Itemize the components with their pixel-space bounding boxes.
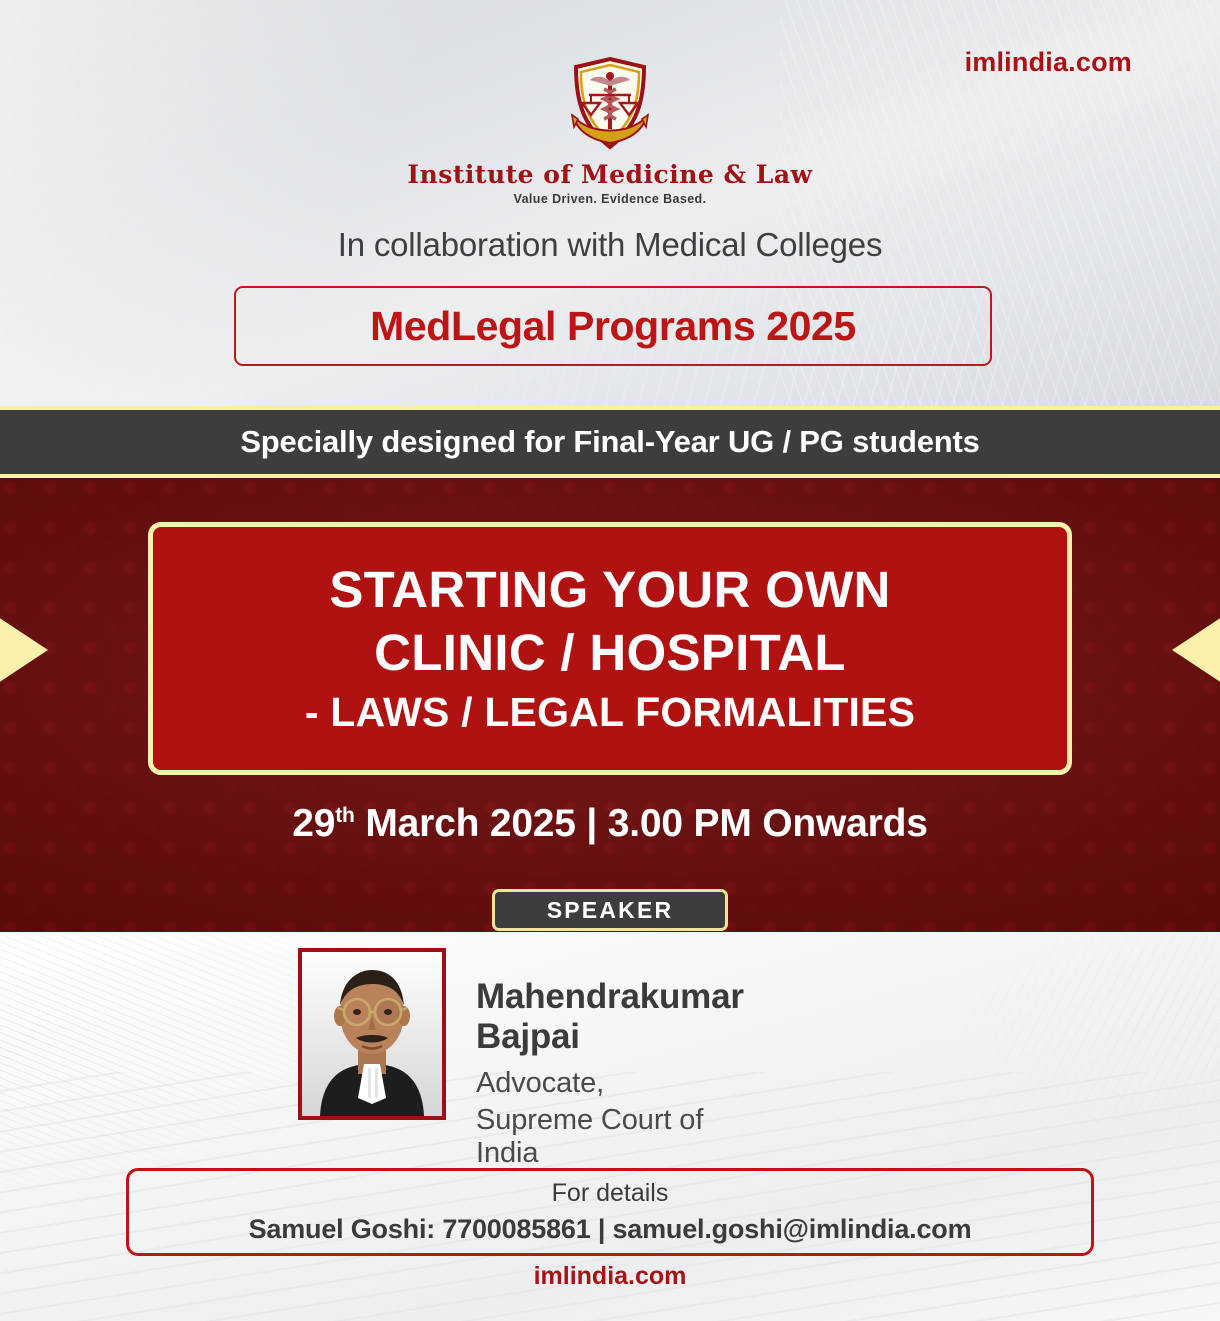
- triangle-left-icon: [1172, 613, 1220, 687]
- speaker-role-line2: Supreme Court of India: [476, 1104, 744, 1170]
- speaker-name: Mahendrakumar Bajpai: [476, 977, 744, 1057]
- contact-box: For details Samuel Goshi: 7700085861 | s…: [126, 1168, 1094, 1256]
- event-title-line1: STARTING YOUR OWN: [329, 564, 890, 616]
- speaker-badge-label: SPEAKER: [547, 897, 674, 924]
- event-date-day: 29: [292, 802, 335, 845]
- organization-name: Institute of Medicine & Law: [0, 160, 1220, 189]
- shield-crest-caduceus-scales-icon: [564, 55, 656, 155]
- background-wave-lines-right: [720, 932, 1220, 1172]
- audience-banner-text: Specially designed for Final-Year UG / P…: [240, 424, 979, 460]
- program-title-box: MedLegal Programs 2025: [234, 286, 992, 366]
- program-title: MedLegal Programs 2025: [370, 303, 856, 350]
- organization-tagline: Value Driven. Evidence Based.: [0, 192, 1220, 206]
- flyer-poster: imlindia.com Institute of Medicine: [0, 0, 1220, 1321]
- speaker-badge: SPEAKER: [492, 889, 728, 931]
- speaker-info: Mahendrakumar Bajpai Advocate, Supreme C…: [476, 977, 744, 1170]
- audience-banner: Specially designed for Final-Year UG / P…: [0, 406, 1220, 478]
- triangle-right-icon: [0, 613, 48, 687]
- event-date-suffix: th: [335, 804, 354, 827]
- logo-block: Institute of Medicine & Law Value Driven…: [0, 55, 1220, 206]
- contact-details[interactable]: Samuel Goshi: 7700085861 | samuel.goshi@…: [249, 1214, 972, 1245]
- site-url-bottom[interactable]: imlindia.com: [0, 1262, 1220, 1291]
- event-title-line3: - LAWS / LEGAL FORMALITIES: [305, 692, 915, 734]
- event-datetime: 29th March 2025 | 3.00 PM Onwards: [0, 802, 1220, 846]
- event-title-box: STARTING YOUR OWN CLINIC / HOSPITAL - LA…: [148, 522, 1072, 775]
- event-title-line2: CLINIC / HOSPITAL: [374, 627, 846, 679]
- collaboration-line: In collaboration with Medical Colleges: [0, 226, 1220, 264]
- speaker-portrait-icon: [302, 952, 442, 1116]
- speaker-role-line1: Advocate,: [476, 1067, 744, 1100]
- contact-heading: For details: [552, 1179, 669, 1208]
- event-datetime-rest: March 2025 | 3.00 PM Onwards: [355, 802, 928, 845]
- speaker-photo: [298, 948, 446, 1120]
